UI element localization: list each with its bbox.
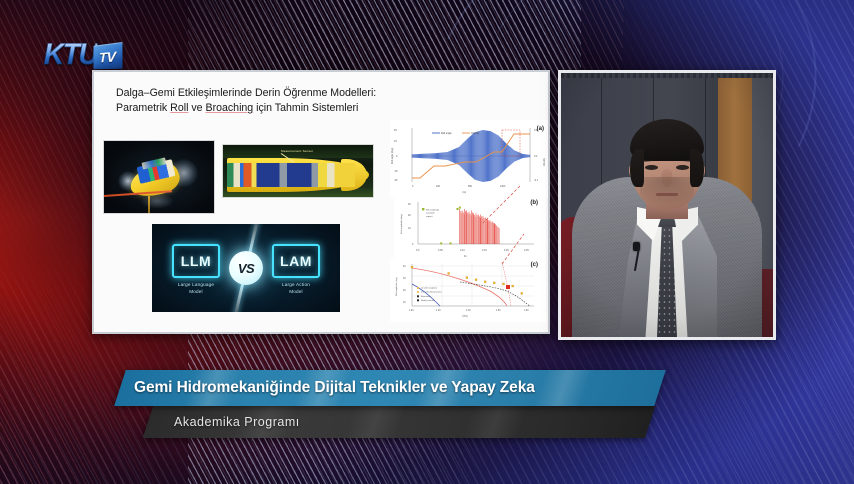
- photo-ship-model-top-view: Measurement Sensor: [222, 144, 374, 198]
- chart-a-svg: 25150 -15-25 04008001200 0.60.2-0.1 t (s…: [390, 120, 548, 198]
- svg-text:Roll amplitude: Roll amplitude: [426, 208, 440, 211]
- lower-third: Gemi Hidromekaniğinde Dijital Teknikler …: [0, 370, 854, 460]
- chart-c-tag: (c): [531, 262, 538, 268]
- svg-text:1st order analytical: 1st order analytical: [421, 287, 437, 290]
- channel-logo-tv-badge: TV: [94, 42, 123, 69]
- svg-text:1.30: 1.30: [436, 310, 441, 312]
- studio-video-feed: [558, 70, 776, 340]
- svg-text:0.05: 0.05: [438, 249, 443, 252]
- ship-annotation-label: Measurement Sensor: [281, 149, 313, 153]
- lam-box: LAM: [272, 244, 320, 278]
- slide-title-line-1: Dalga–Gemi Etkileşimlerinde Derin Öğrenm…: [116, 86, 538, 101]
- svg-text:(unstable: (unstable: [426, 212, 435, 215]
- slide-title-l2-a: Parametrik: [116, 102, 170, 114]
- llm-subtitle: Large Language Model: [158, 282, 234, 296]
- svg-text:2nd order (Runge-Kutta): 2nd order (Runge-Kutta): [421, 291, 442, 294]
- svg-text:Velocity: Velocity: [543, 157, 546, 166]
- versus-label: VS: [238, 261, 254, 276]
- svg-text:1.60: 1.60: [524, 310, 529, 312]
- slide-title-l2-c: için Tahmin Sistemleri: [253, 102, 358, 114]
- svg-text:Experiment: Experiment: [421, 295, 431, 298]
- svg-text:1.20: 1.20: [409, 310, 414, 312]
- slide-title-l2-b: ve: [188, 102, 205, 114]
- svg-text:1.50: 1.50: [496, 310, 501, 312]
- svg-text:Velocity: Velocity: [471, 132, 480, 135]
- lam-acronym: LAM: [280, 253, 312, 269]
- llm-subtitle-line-1: Large Language: [158, 282, 234, 289]
- svg-text:Roll amplitude (deg): Roll amplitude (deg): [395, 277, 398, 296]
- lam-subtitle-line-1: Large Action: [258, 282, 334, 289]
- svg-text:0.25: 0.25: [524, 249, 529, 252]
- versus-badge: VS: [229, 251, 263, 285]
- svg-text:Roll amplitude (deg): Roll amplitude (deg): [400, 214, 403, 234]
- svg-text:region): region): [426, 215, 433, 218]
- tow-post: [148, 196, 150, 214]
- chart-a-roll-time-history: 25150 -15-25 04008001200 0.60.2-0.1 t (s…: [390, 120, 548, 198]
- svg-text:0.15: 0.15: [482, 249, 487, 252]
- llm-acronym: LLM: [181, 253, 212, 269]
- channel-logo: KTU TV: [42, 36, 140, 70]
- channel-logo-tv-label: TV: [99, 48, 115, 65]
- svg-text:Roll angle (deg): Roll angle (deg): [392, 148, 394, 164]
- slide-title-line-2: Parametrik Roll ve Broaching için Tahmin…: [116, 101, 538, 116]
- svg-text:1.40: 1.40: [466, 310, 471, 312]
- photo-ship-model-towing-tank: [103, 140, 215, 214]
- chart-b-roll-amplitude-froude: 3020100 0.00.050.10 0.150.200.25 Fn Roll…: [394, 196, 546, 260]
- svg-text:1200: 1200: [500, 185, 506, 188]
- llm-subtitle-line-2: Model: [158, 289, 234, 296]
- llm-vs-lam-graphic: LLM LAM Large Language Model Large Actio…: [152, 224, 340, 312]
- chart-a-tag: (a): [537, 126, 544, 132]
- svg-text:t (s): t (s): [462, 191, 466, 194]
- video-vignette: [561, 73, 773, 337]
- slide-title: Dalga–Gemi Etkileşimlerinde Derin Öğrenm…: [116, 86, 538, 117]
- lower-third-headline: Gemi Hidromekaniğinde Dijital Teknikler …: [120, 370, 660, 406]
- svg-text:800: 800: [468, 185, 473, 188]
- presentation-slide: Dalga–Gemi Etkileşimlerinde Derin Öğrenm…: [92, 70, 550, 334]
- lower-third-program-name: Akademika Programı: [148, 406, 650, 438]
- slide-title-roll: Roll: [170, 102, 188, 114]
- llm-box: LLM: [172, 244, 220, 278]
- lam-subtitle-line-2: Model: [258, 289, 334, 296]
- svg-text:400: 400: [436, 185, 441, 188]
- svg-text:Model prediction: Model prediction: [421, 299, 435, 302]
- svg-text:Roll angle: Roll angle: [441, 132, 452, 135]
- svg-text:f (Hz): f (Hz): [462, 316, 468, 318]
- svg-text:0.10: 0.10: [460, 249, 465, 252]
- broadcast-screen: KTU TV Dalga–Gemi Etkileşimlerinde Derin…: [0, 0, 854, 484]
- chart-c-svg: 40302010 1.201.301.40 1.501.60 f (Hz) Ro…: [390, 258, 546, 322]
- chart-b-svg: 3020100 0.00.050.10 0.150.200.25 Fn Roll…: [394, 196, 546, 260]
- svg-text:-0.1: -0.1: [534, 179, 539, 182]
- channel-logo-text: KTU: [44, 40, 98, 70]
- slide-title-broaching: Broaching: [206, 102, 254, 114]
- svg-text:0.20: 0.20: [504, 249, 509, 252]
- ship-deck-equipment: [227, 163, 355, 187]
- chart-c-amplitude-vs-frequency: 40302010 1.201.301.40 1.501.60 f (Hz) Ro…: [390, 258, 546, 322]
- chart-b-tag: (b): [530, 200, 538, 206]
- lam-subtitle: Large Action Model: [258, 282, 334, 296]
